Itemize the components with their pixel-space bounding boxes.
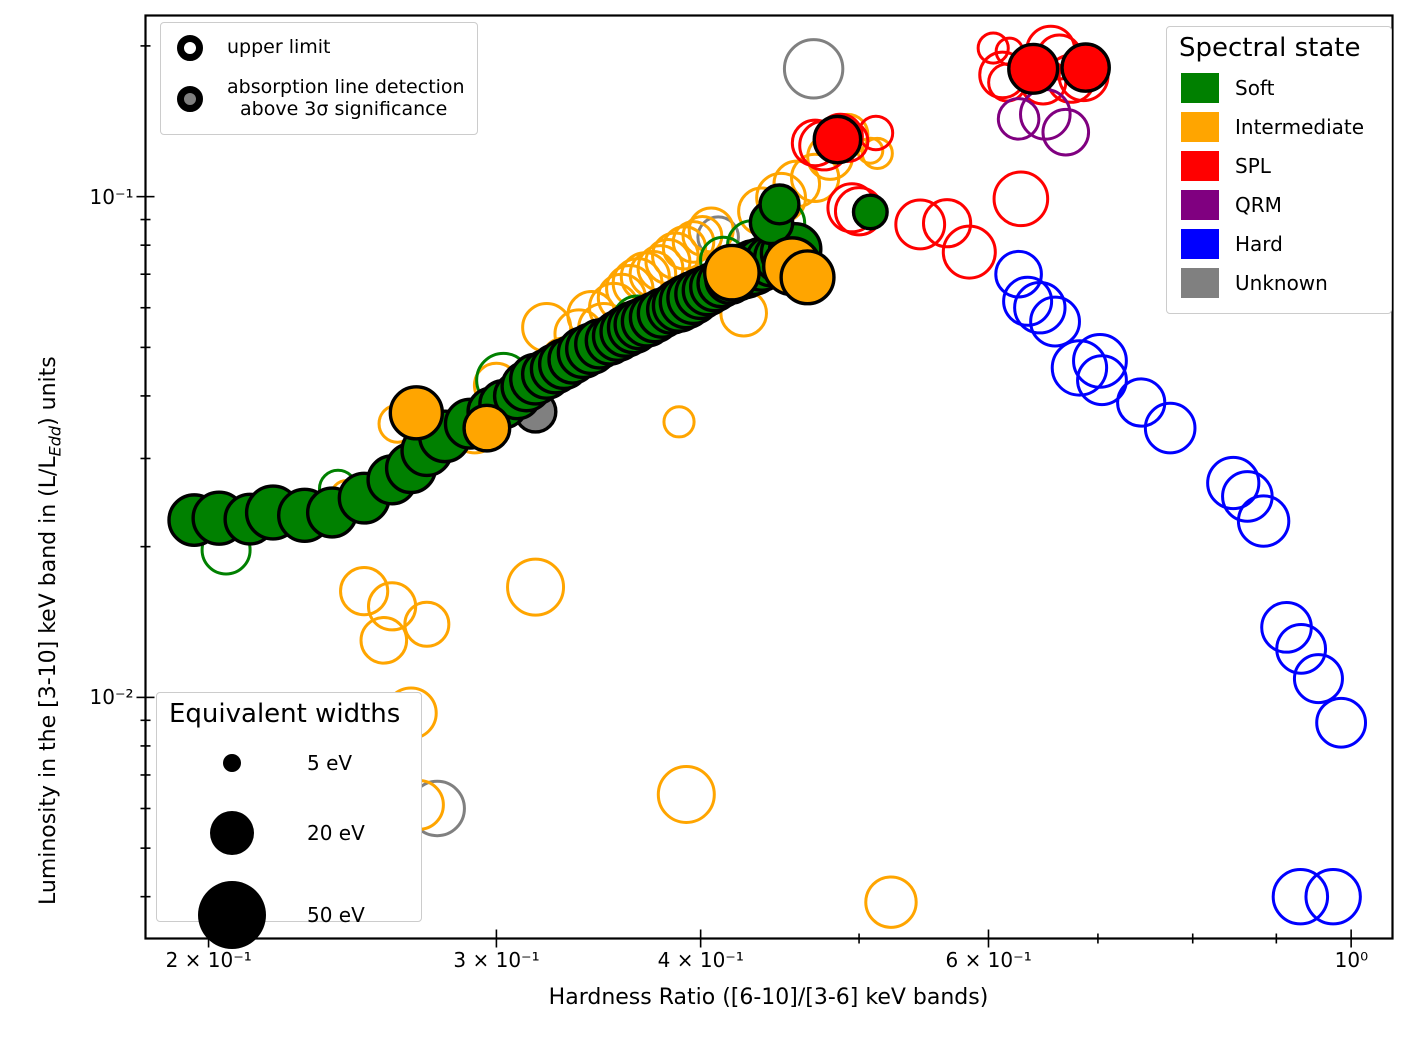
marker-type-legend: upper limit absorption line detection ab… <box>160 22 478 135</box>
scatter-point-upper-limit <box>341 568 388 615</box>
x-tick-label: 6 × 10⁻¹ <box>945 948 1031 972</box>
scatter-point-upper-limit <box>978 33 1008 63</box>
scatter-point-detection <box>464 405 510 451</box>
legend-label-upper-limit: upper limit <box>227 37 331 59</box>
legend-row-size-50-ev[interactable]: 50 eV <box>157 881 423 949</box>
legend-row-state-qrm[interactable]: QRM <box>1181 190 1282 220</box>
equivalent-widths-legend-title: Equivalent widths <box>169 699 400 729</box>
size-marker-holder <box>157 811 307 855</box>
filled-circle-icon <box>177 86 203 112</box>
legend-label-state-hard: Hard <box>1235 232 1283 256</box>
legend-row-state-soft[interactable]: Soft <box>1181 73 1274 103</box>
legend-row-state-spl[interactable]: SPL <box>1181 151 1271 181</box>
scatter-point-upper-limit <box>1208 457 1259 508</box>
legend-row-state-intermediate[interactable]: Intermediate <box>1181 112 1364 142</box>
legend-row-size-20-ev[interactable]: 20 eV <box>157 811 423 855</box>
legend-row-upper-limit: upper limit <box>177 35 331 61</box>
scatter-point-upper-limit <box>784 40 842 98</box>
x-tick-label: 2 × 10⁻¹ <box>166 948 252 972</box>
scatter-point-upper-limit <box>998 99 1039 140</box>
color-swatch-spl <box>1181 151 1219 181</box>
color-swatch-soft <box>1181 73 1219 103</box>
y-tick-label: 10⁻² <box>90 685 134 709</box>
legend-label-size-20-ev: 20 eV <box>307 821 365 845</box>
scatter-point-detection <box>390 387 442 439</box>
scatter-point-upper-limit <box>1294 655 1342 703</box>
scatter-point-upper-limit <box>1118 379 1165 426</box>
scatter-point-upper-limit <box>1015 283 1065 333</box>
scatter-point-upper-limit <box>1021 90 1071 140</box>
legend-label-size-5-ev: 5 eV <box>307 751 352 775</box>
scatter-point-upper-limit <box>996 251 1042 297</box>
color-swatch-unknown <box>1181 268 1219 298</box>
scatter-point-detection <box>1062 44 1109 91</box>
color-swatch-hard <box>1181 229 1219 259</box>
legend-label-absorption-line-1: absorption line detection <box>227 77 465 99</box>
scatter-point-upper-limit <box>1043 109 1089 155</box>
equivalent-widths-legend: Equivalent widths 5 eV20 eV50 eV <box>156 692 422 922</box>
x-axis-label: Hardness Ratio ([6-10]/[3-6] keV bands) <box>145 985 1392 1010</box>
y-tick-label: 10⁻¹ <box>90 185 134 209</box>
scatter-point-upper-limit <box>664 407 694 437</box>
scatter-point-upper-limit <box>896 200 945 249</box>
open-circle-icon <box>177 35 203 61</box>
legend-row-state-hard[interactable]: Hard <box>1181 229 1283 259</box>
scatter-point-detection <box>705 245 759 299</box>
color-swatch-qrm <box>1181 190 1219 220</box>
spectral-state-legend: Spectral state SoftIntermediateSPLQRMHar… <box>1166 26 1392 314</box>
y-axis-label-suffix: ) units <box>36 356 61 426</box>
scatter-point-upper-limit <box>994 172 1048 226</box>
legend-row-state-unknown[interactable]: Unknown <box>1181 268 1328 298</box>
scatter-point-upper-limit <box>1273 869 1327 923</box>
legend-label-state-spl: SPL <box>1235 154 1271 178</box>
scatter-point-detection <box>760 185 799 224</box>
size-marker-holder <box>157 881 307 949</box>
legend-label-size-50-ev: 50 eV <box>307 903 365 927</box>
legend-label-state-qrm: QRM <box>1235 193 1282 217</box>
legend-label-absorption-line-2: above 3σ significance <box>227 99 465 121</box>
scatter-point-upper-limit <box>859 116 893 150</box>
legend-row-size-5-ev[interactable]: 5 eV <box>157 751 423 775</box>
legend-label-state-intermediate: Intermediate <box>1235 115 1364 139</box>
scatter-point-upper-limit <box>1317 698 1366 747</box>
y-axis-label-subscript: Edd <box>45 426 64 456</box>
scatter-point-upper-limit <box>361 618 407 664</box>
scatter-point-upper-limit <box>1262 603 1312 653</box>
size-marker-dot <box>210 811 254 855</box>
scatter-point-upper-limit <box>1145 403 1195 453</box>
scatter-point-detection <box>814 116 860 162</box>
size-marker-dot <box>198 881 266 949</box>
x-tick-label: 10⁰ <box>1335 948 1368 972</box>
legend-row-absorption-detection: absorption line detection above 3σ signi… <box>177 77 465 121</box>
hardness-intensity-diagram: Luminosity in the [3-10] keV band in (L/… <box>0 0 1407 1052</box>
legend-label-state-unknown: Unknown <box>1235 271 1328 295</box>
size-marker-dot <box>223 754 241 772</box>
y-axis-label-text: Luminosity in the [3-10] keV band in (L/… <box>36 456 61 905</box>
scatter-point-detection <box>854 195 888 229</box>
scatter-point-detection <box>1009 44 1058 93</box>
x-tick-label: 4 × 10⁻¹ <box>658 948 744 972</box>
scatter-point-upper-limit <box>508 559 564 615</box>
size-marker-holder <box>157 754 307 772</box>
scatter-point-upper-limit <box>1306 869 1360 923</box>
spectral-state-legend-title: Spectral state <box>1179 33 1360 63</box>
x-tick-label: 3 × 10⁻¹ <box>453 948 539 972</box>
y-axis-label: Luminosity in the [3-10] keV band in (L/… <box>36 356 64 905</box>
scatter-point-upper-limit <box>405 602 449 646</box>
scatter-point-upper-limit <box>658 766 714 822</box>
scatter-point-detection <box>781 251 834 304</box>
scatter-point-upper-limit <box>866 877 916 927</box>
scatter-point-upper-limit <box>368 583 415 630</box>
color-swatch-intermediate <box>1181 112 1219 142</box>
legend-label-state-soft: Soft <box>1235 76 1274 100</box>
